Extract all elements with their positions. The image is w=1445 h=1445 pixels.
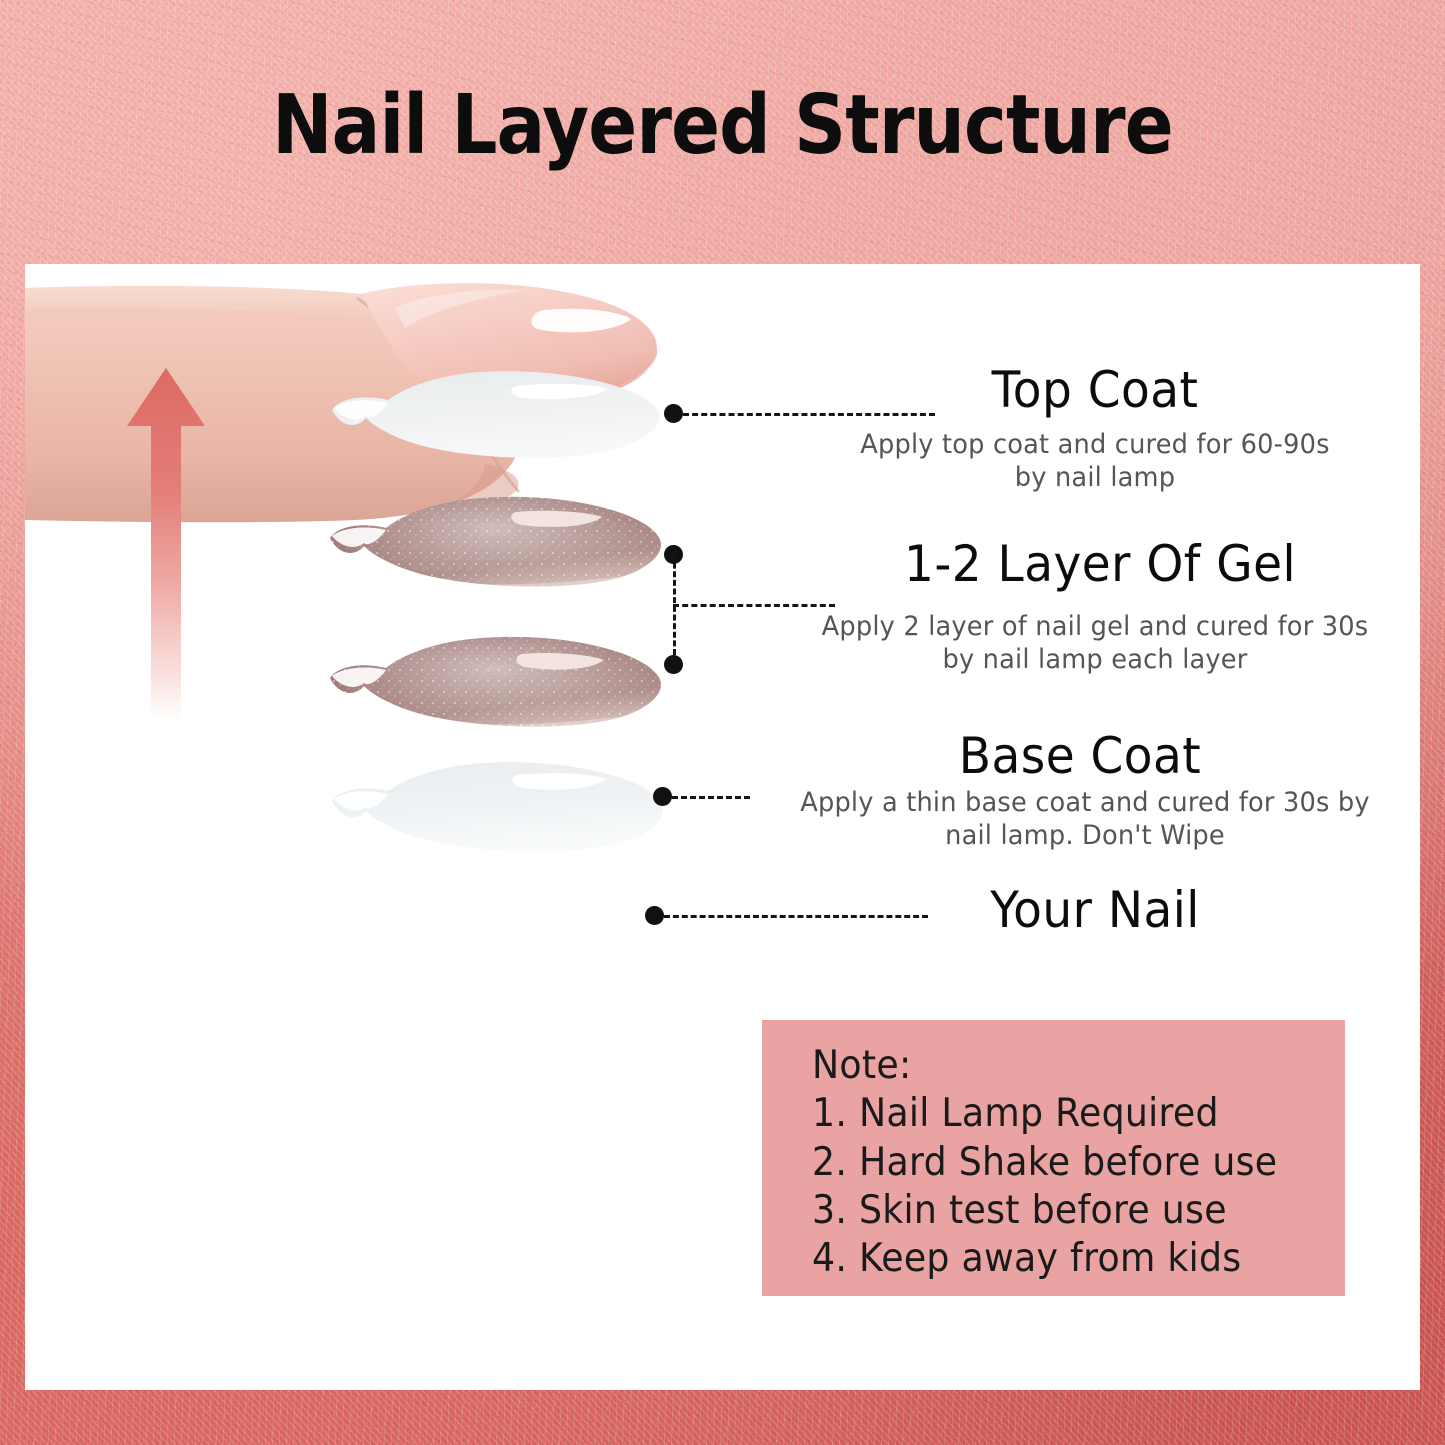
layer-heading-top-coat: Top Coat [804, 364, 1387, 417]
layer-heading-base-coat: Base Coat [789, 730, 1372, 783]
up-arrow-icon [121, 364, 211, 724]
layer-description-base-coat-line2: nail lamp. Don't Wipe [762, 819, 1408, 853]
content-card: Top Coat Apply top coat and cured for 60… [25, 264, 1420, 1390]
base-coat-swatch [320, 751, 675, 856]
layer-description-gel-line2: by nail lamp each layer [786, 643, 1404, 677]
connector-dot-base-coat [653, 787, 672, 806]
layer-description-gel-line1: Apply 2 layer of nail gel and cured for … [786, 610, 1404, 644]
note-text: Note: 1. Nail Lamp Required 2. Hard Shak… [812, 1042, 1277, 1284]
connector-dot-your-nail [645, 906, 664, 925]
connector-line-gel-branch [673, 604, 835, 607]
layer-description-base-coat-line1: Apply a thin base coat and cured for 30s… [762, 786, 1408, 820]
note-box: Note: 1. Nail Lamp Required 2. Hard Shak… [762, 1020, 1345, 1296]
top-coat-swatch [320, 358, 670, 463]
connector-line-base-coat [672, 796, 750, 799]
layer-description-top-coat-line1: Apply top coat and cured for 60-90s [801, 428, 1390, 462]
gel-layer-swatch-2 [320, 624, 670, 734]
infographic-canvas: Nail Layered Structure [0, 0, 1445, 1445]
connector-dot-top-coat [664, 404, 683, 423]
layer-heading-gel: 1-2 Layer Of Gel [799, 538, 1401, 591]
layer-heading-your-nail: Your Nail [804, 884, 1387, 937]
gel-layer-swatch-1 [320, 484, 670, 594]
page-title: Nail Layered Structure [87, 85, 1359, 167]
layer-description-top-coat-line2: by nail lamp [801, 461, 1390, 495]
connector-dot-gel-lower [664, 655, 683, 674]
